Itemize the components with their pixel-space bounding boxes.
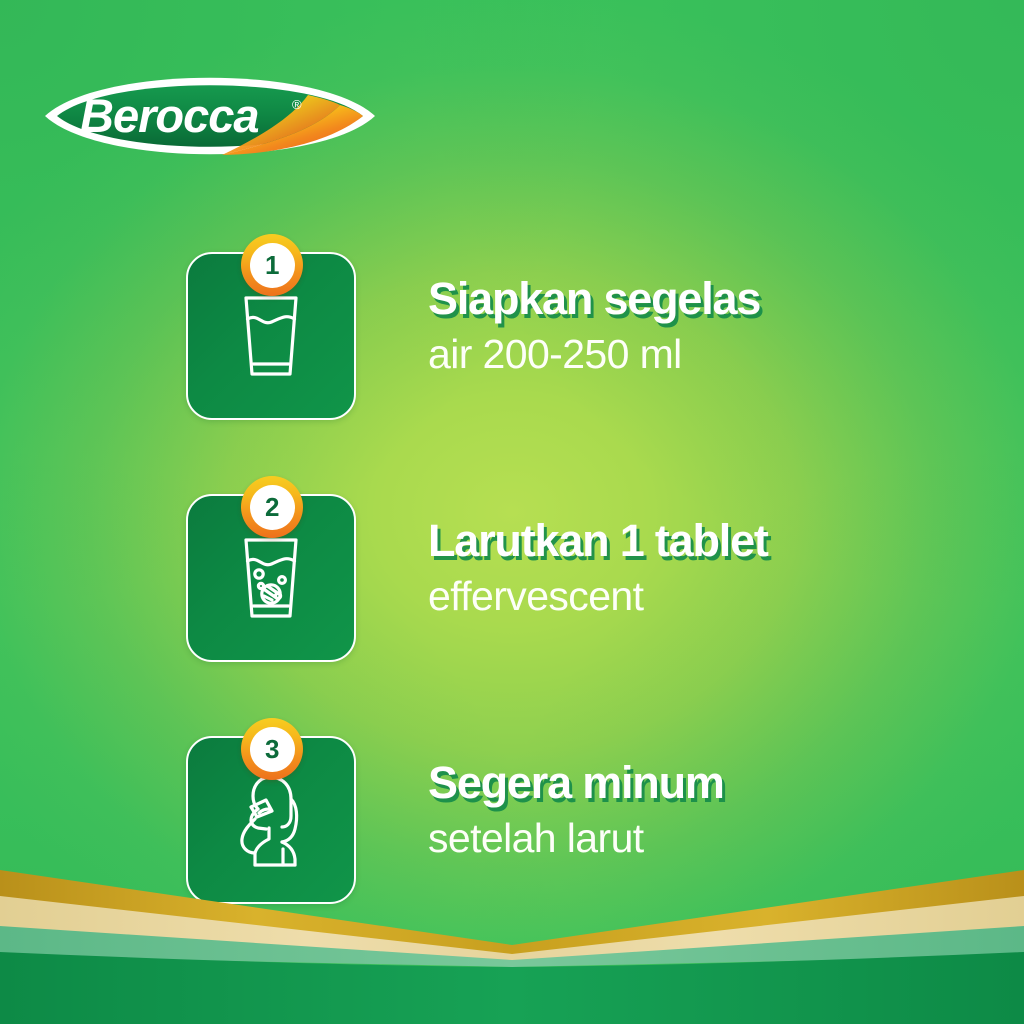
seafoam-band	[0, 926, 1024, 967]
step-2-number: 2	[250, 485, 295, 530]
step-3: 3 Segera minum setelah larut	[0, 718, 1024, 904]
step-2-subline: effervescent	[428, 574, 988, 619]
step-1: 1 Siapkan segelas air 200-250 ml	[0, 234, 1024, 420]
step-1-text-block: Siapkan segelas air 200-250 ml	[428, 276, 988, 377]
step-3-number-badge: 3	[241, 718, 303, 780]
step-2-text-block: Larutkan 1 tablet effervescent	[428, 518, 988, 619]
step-1-subline: air 200-250 ml	[428, 332, 988, 377]
deep-green-base	[0, 952, 1024, 1024]
logo-wordmark: Berocca	[80, 89, 259, 142]
step-1-headline: Siapkan segelas	[428, 276, 988, 322]
step-1-number: 1	[250, 243, 295, 288]
gold-pale-band	[0, 896, 1024, 964]
step-3-subline: setelah larut	[428, 816, 988, 861]
step-3-text-block: Segera minum setelah larut	[428, 760, 988, 861]
step-2: 2 Larutkan 1 tablet effervescent	[0, 476, 1024, 662]
poster-canvas: Berocca ® 1 Siapkan segelas air 200-250 …	[0, 0, 1024, 1024]
step-3-number: 3	[250, 727, 295, 772]
step-3-headline: Segera minum	[428, 760, 988, 806]
step-2-headline: Larutkan 1 tablet	[428, 518, 988, 564]
berocca-logo: Berocca ®	[40, 62, 380, 170]
step-1-number-badge: 1	[241, 234, 303, 296]
step-2-number-badge: 2	[241, 476, 303, 538]
logo-trademark-symbol: ®	[292, 97, 302, 112]
